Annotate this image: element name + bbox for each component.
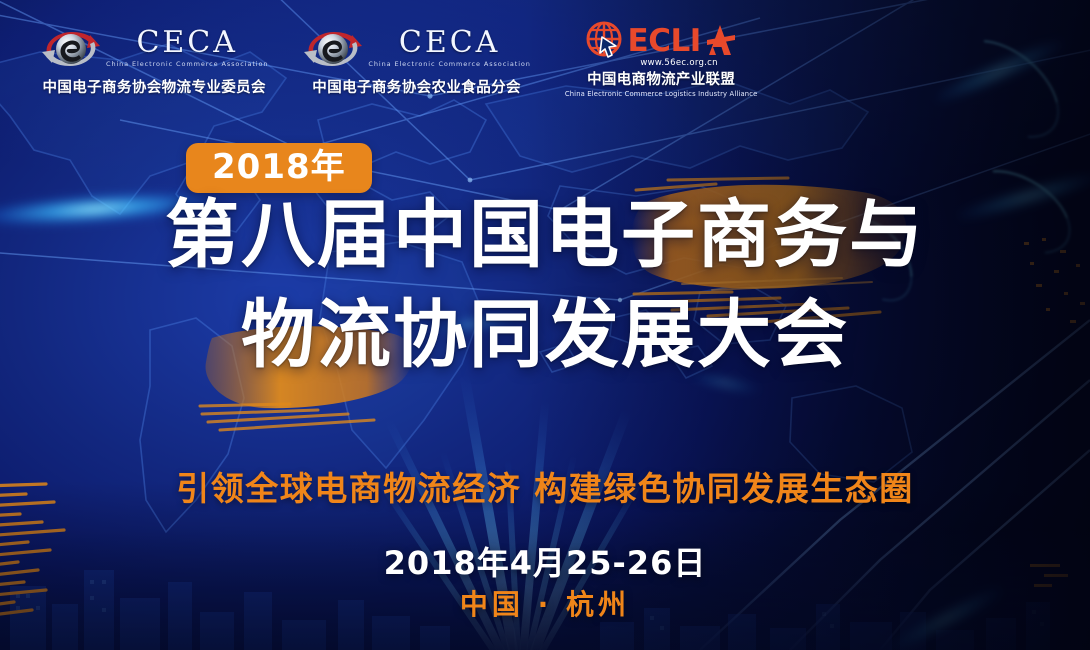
year-badge: 2018年 <box>186 143 372 193</box>
event-location: 中国 · 杭州 <box>0 583 1090 623</box>
page-title: 第八届中国电子商务与 物流协同发展大会 <box>0 196 1090 376</box>
subtitle: 引领全球电商物流经济 构建绿色协同发展生态圈 <box>0 462 1090 510</box>
poster-content: 2018年 第八届中国电子商务与 物流协同发展大会 引领全球电商物流经济 构建绿… <box>0 0 1090 650</box>
title-line-2: 物流协同发展大会 <box>0 296 1090 376</box>
event-date: 2018年4月25-26日 <box>0 538 1090 584</box>
conference-poster: CECA China Electronic Commerce Associati… <box>0 0 1090 650</box>
title-line-1: 第八届中国电子商务与 <box>0 196 1090 276</box>
